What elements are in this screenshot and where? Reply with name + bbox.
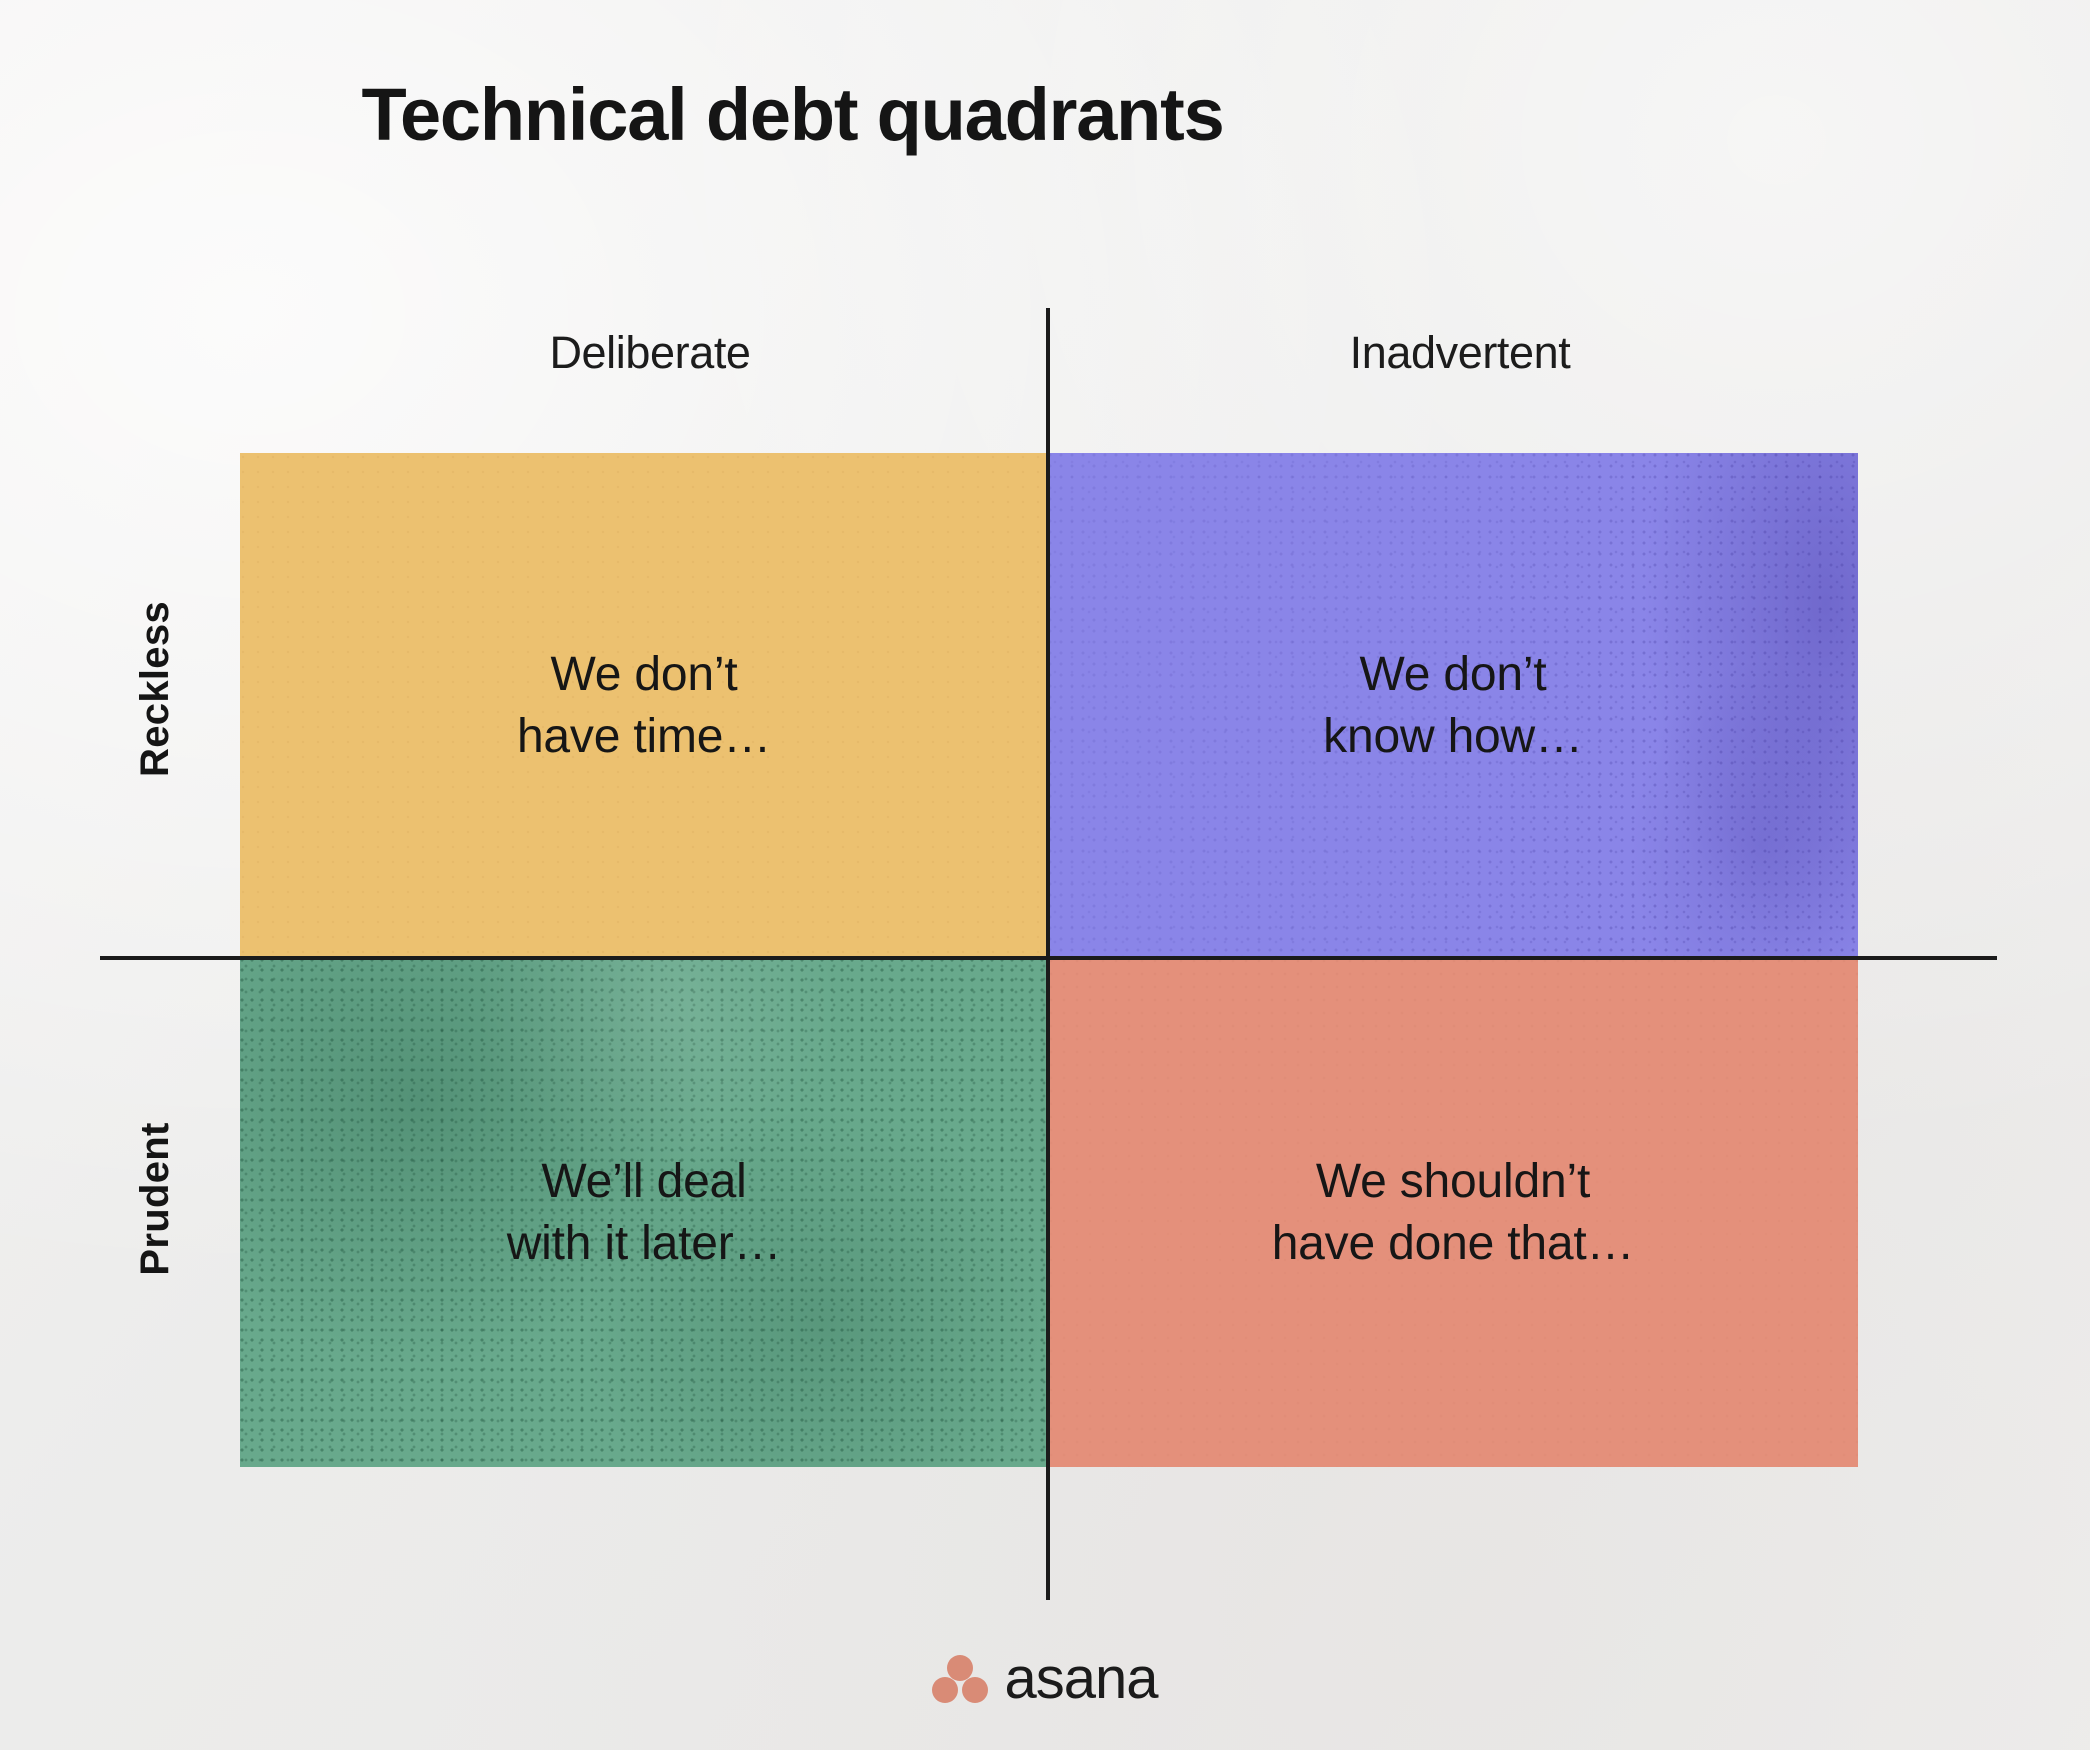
page-title: Technical debt quadrants <box>0 72 1585 157</box>
quadrant-deliberate-reckless: We don’t have time… <box>240 453 1048 958</box>
quadrant-inadvertent-prudent: We shouldn’t have done that… <box>1048 958 1858 1467</box>
quadrant-label-deliberate-prudent: We’ll deal with it later… <box>507 1151 782 1274</box>
quadrant-label-inadvertent-prudent: We shouldn’t have done that… <box>1272 1151 1635 1274</box>
asana-three-dots-icon <box>932 1655 988 1703</box>
asana-dot-right <box>962 1677 988 1703</box>
column-header-deliberate: Deliberate <box>340 327 960 379</box>
quadrant-deliberate-prudent: We’ll deal with it later… <box>240 958 1048 1467</box>
quadrant-label-inadvertent-reckless: We don’t know how… <box>1323 644 1583 767</box>
row-header-reckless: Reckless <box>131 529 179 849</box>
row-header-prudent: Prudent <box>131 1039 179 1359</box>
column-header-inadvertent: Inadvertent <box>1150 327 1770 379</box>
asana-logo: asana <box>0 1650 2090 1708</box>
asana-dot-left <box>932 1677 958 1703</box>
quadrant-inadvertent-reckless: We don’t know how… <box>1048 453 1858 958</box>
asana-wordmark: asana <box>1004 1650 1157 1708</box>
axis-line-horizontal <box>100 956 1997 960</box>
axis-line-vertical <box>1046 308 1050 1600</box>
quadrant-label-deliberate-reckless: We don’t have time… <box>517 644 771 767</box>
